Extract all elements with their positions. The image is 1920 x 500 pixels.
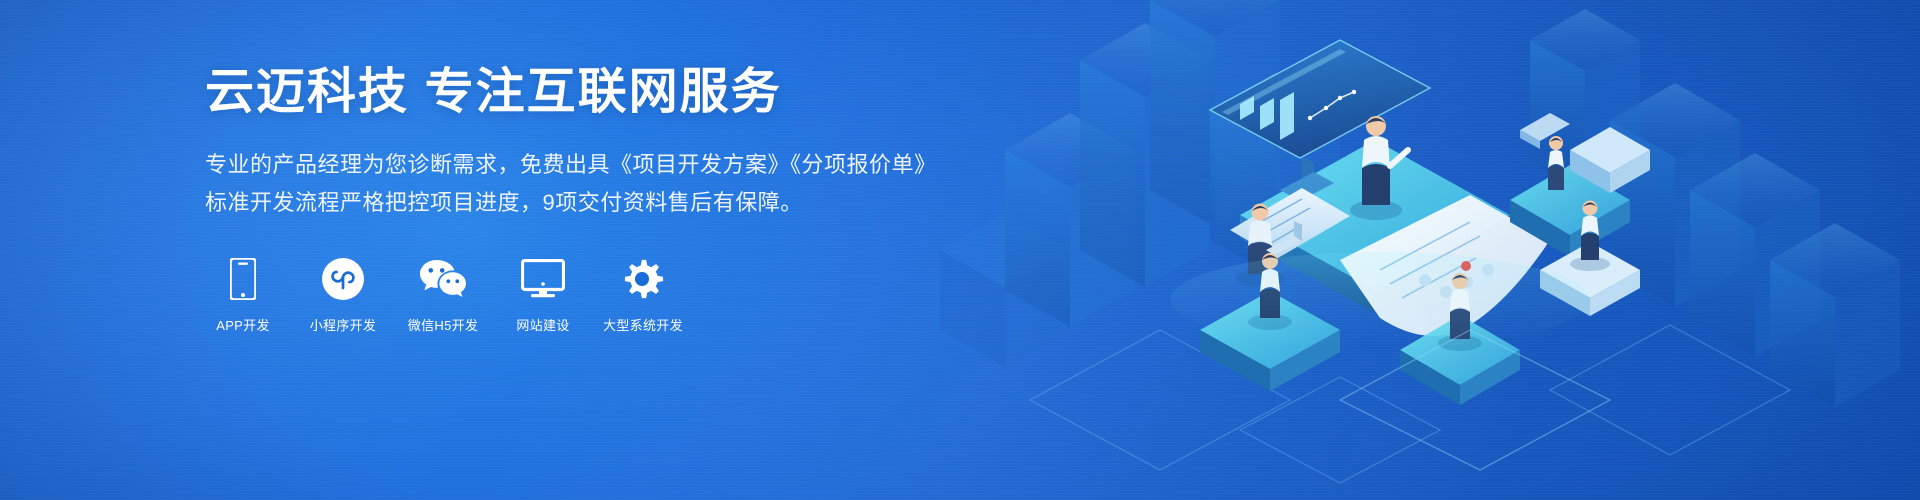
service-label-system: 大型系统开发: [603, 315, 683, 334]
character-top-right: [1548, 136, 1564, 190]
pedestal-far-right: [1540, 242, 1640, 316]
pedestal-left: [1200, 291, 1340, 391]
floor-grid: [1030, 325, 1790, 483]
service-label-wechat: 微信H5开发: [408, 315, 478, 334]
document-sheet: [1340, 195, 1550, 336]
right-blocks: [1510, 127, 1650, 257]
dashboard-screen: [1210, 40, 1430, 201]
pedestal-right: [1400, 315, 1520, 405]
mobile-phone-icon: [230, 256, 256, 302]
banner-title: 云迈科技 专注互联网服务: [205, 64, 965, 120]
character-laptop: [1236, 204, 1302, 288]
service-label-website: 网站建设: [516, 315, 569, 334]
banner-subtitle: 专业的产品经理为您诊断需求，免费出具《项目开发方案》《分项报价单》 标准开发流程…: [205, 146, 965, 222]
hero-banner: 云迈科技 专注互联网服务 专业的产品经理为您诊断需求，免费出具《项目开发方案》《…: [0, 0, 1920, 500]
background-towers: [940, 0, 1900, 407]
character-right-pedestal: [1438, 273, 1482, 351]
service-item-wechat[interactable]: 微信H5开发: [405, 256, 481, 334]
main-platform: [1240, 140, 1510, 313]
floating-chip: [1520, 113, 1570, 149]
service-item-system[interactable]: 大型系统开发: [605, 256, 681, 334]
service-item-miniprogram[interactable]: 小程序开发: [305, 256, 381, 334]
service-icon-row: APP开发 小程序开发: [205, 256, 965, 334]
subtitle-line-2: 标准开发流程严格把控项目进度，9项交付资料售后有保障。: [205, 184, 965, 222]
character-presenter: [1350, 116, 1408, 220]
wireframe-plate: [1340, 330, 1610, 470]
gear-icon: [622, 256, 664, 302]
monitor-icon: [521, 256, 565, 302]
report-card-left: [1230, 188, 1350, 258]
highlight-dot: [1461, 261, 1471, 271]
mini-program-icon: [322, 256, 364, 302]
character-left-pedestal: [1248, 253, 1292, 330]
character-far-right: [1570, 201, 1610, 272]
hero-illustration: [910, 0, 1920, 500]
subtitle-line-1: 专业的产品经理为您诊断需求，免费出具《项目开发方案》《分项报价单》: [205, 146, 965, 184]
wechat-icon: [419, 256, 467, 302]
service-label-miniprogram: 小程序开发: [310, 315, 377, 334]
service-item-website[interactable]: 网站建设: [505, 256, 581, 334]
service-item-app[interactable]: APP开发: [205, 256, 281, 334]
banner-content: 云迈科技 专注互联网服务 专业的产品经理为您诊断需求，免费出具《项目开发方案》《…: [205, 64, 965, 334]
service-label-app: APP开发: [216, 315, 270, 334]
